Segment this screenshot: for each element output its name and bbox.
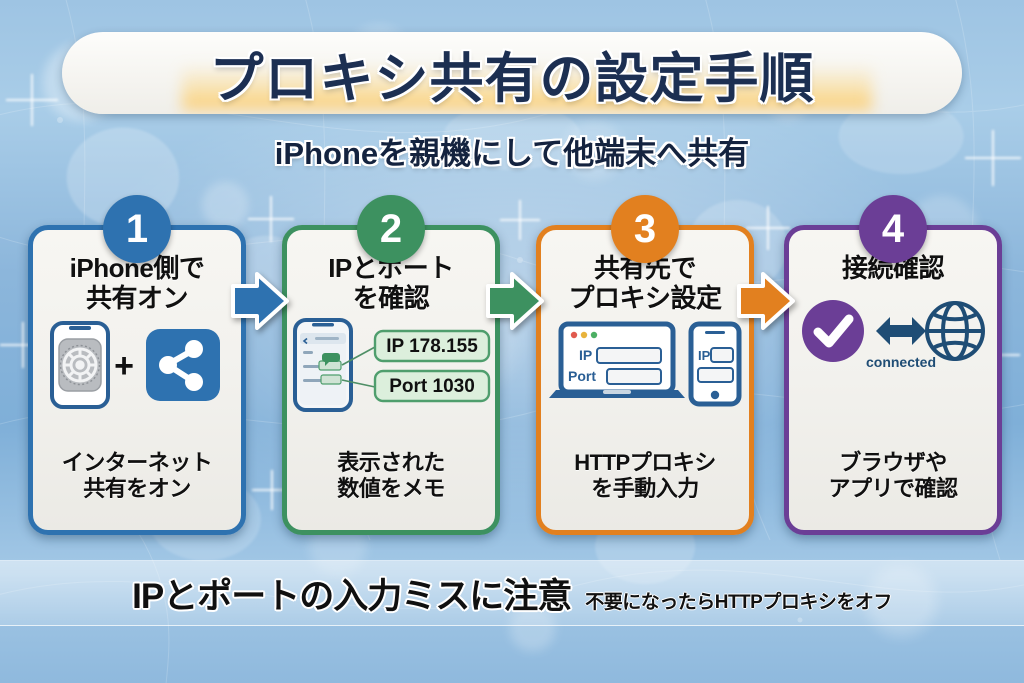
step-badge-4: 4 bbox=[859, 195, 927, 263]
step-caption-3: HTTPプロキシ を手動入力 bbox=[574, 450, 715, 502]
globe-icon bbox=[927, 303, 983, 359]
laptop-phone-proxy-illustration: IP Port IP bbox=[547, 320, 743, 410]
connected-status-label: connected bbox=[866, 354, 936, 370]
arrow-step3-to-step4 bbox=[737, 270, 795, 332]
step-card-1[interactable]: 1 iPhone側で 共有オン bbox=[28, 225, 246, 535]
arrow-step1-to-step2 bbox=[231, 270, 289, 332]
step-card-3[interactable]: 3 共有先で プロキシ設定 IP Port bbox=[536, 225, 754, 535]
check-circle-icon bbox=[802, 300, 864, 362]
ip-port-callout-illustration: IP 178.155 Port 1030 bbox=[289, 317, 493, 413]
laptop-port-label: Port bbox=[568, 368, 596, 384]
footer: IPとポートの入力ミスに注意 不要になったらHTTPプロキシをオフ bbox=[0, 568, 1024, 619]
step-badge-2: 2 bbox=[357, 195, 425, 263]
double-arrow-icon bbox=[876, 317, 926, 345]
step-caption-1: インターネット 共有をオン bbox=[62, 450, 213, 502]
laptop-icon: IP Port bbox=[549, 324, 685, 398]
callout-port-label: Port 1030 bbox=[389, 376, 475, 397]
callout-ip: IP 178.155 bbox=[375, 331, 489, 361]
title-banner: プロキシ共有の設定手順 bbox=[62, 32, 962, 114]
step-badge-1: 1 bbox=[103, 195, 171, 263]
callout-port: Port 1030 bbox=[375, 371, 489, 401]
iphone-settings-icon bbox=[52, 323, 108, 407]
step-art-3: IP Port IP bbox=[541, 319, 749, 411]
step-art-1: + bbox=[33, 319, 241, 411]
arrow-step2-to-step3 bbox=[486, 270, 544, 332]
phone-icon: IP bbox=[691, 324, 739, 404]
callout-ip-label: IP 178.155 bbox=[386, 336, 478, 357]
page-title: プロキシ共有の設定手順 bbox=[62, 32, 962, 114]
footer-warning-text: IPとポートの入力ミスに注意 bbox=[132, 568, 571, 619]
step-art-2: IP 178.155 Port 1030 bbox=[287, 319, 495, 411]
plus-sign: + bbox=[114, 347, 134, 385]
iphone-settings-share-illustration: + bbox=[42, 321, 232, 409]
step-caption-2: 表示された 数値をメモ bbox=[337, 450, 445, 502]
step-badge-3: 3 bbox=[611, 195, 679, 263]
step-art-4: connected bbox=[789, 290, 997, 382]
share-icon bbox=[146, 329, 220, 401]
footer-note-text: 不要になったらHTTPプロキシをオフ bbox=[585, 587, 892, 614]
page-subtitle: iPhoneを親機にして他端末へ共有 bbox=[0, 128, 1024, 173]
window-dots bbox=[571, 332, 597, 338]
laptop-ip-label: IP bbox=[579, 347, 592, 363]
step-card-2[interactable]: 2 IPとポート を確認 bbox=[282, 225, 500, 535]
phone-ip-label: IP bbox=[698, 348, 711, 363]
step-card-4[interactable]: 4 接続確認 connected ブ bbox=[784, 225, 1002, 535]
steps-container: 1 iPhone側で 共有オン bbox=[0, 212, 1024, 542]
step-caption-4: ブラウザや アプリで確認 bbox=[828, 450, 957, 502]
connection-status-illustration: connected bbox=[800, 295, 986, 377]
